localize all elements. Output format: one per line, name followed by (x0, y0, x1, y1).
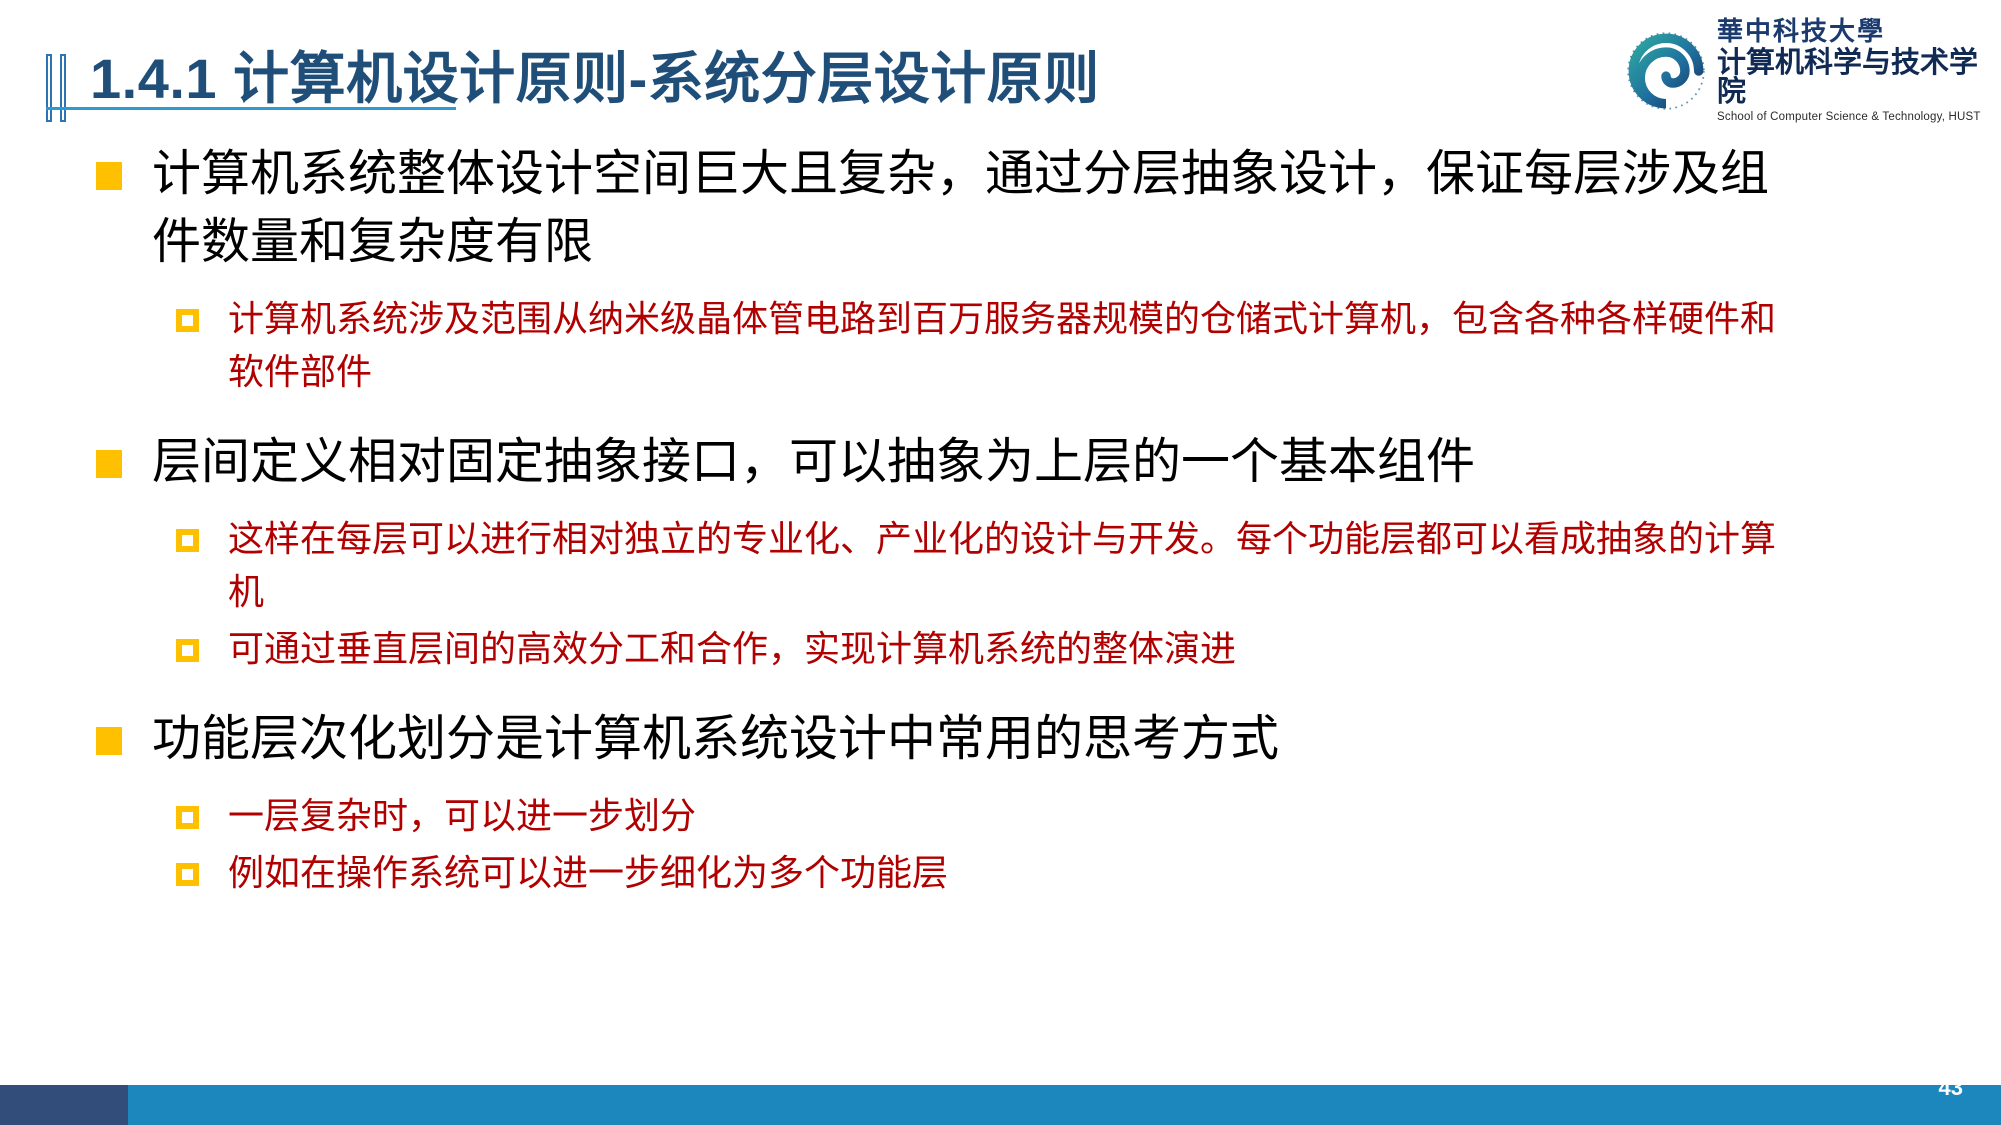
filled-square-bullet-icon (96, 450, 122, 478)
page-title: 1.4.1 计算机设计原则-系统分层设计原则 (90, 44, 1100, 114)
logo-text-block: 華中科技大學 计算机科学与技术学院 School of Computer Sci… (1717, 19, 1981, 124)
footer-left-block (0, 1085, 128, 1125)
hollow-square-bullet-icon (176, 309, 199, 332)
bullet-level2: 计算机系统涉及范围从纳米级晶体管电路到百万服务器规模的仓储式计算机，包含各种各样… (0, 292, 2001, 398)
footer-bar (0, 1085, 2001, 1125)
filled-square-bullet-icon (96, 727, 122, 755)
logo-university-name: 華中科技大學 (1717, 19, 1981, 45)
bullet-level2-text: 计算机系统涉及范围从纳米级晶体管电路到百万服务器规模的仓储式计算机，包含各种各样… (228, 292, 1788, 398)
page-number: 43 (1939, 1077, 1963, 1099)
filled-square-bullet-icon (96, 162, 122, 190)
title-decoration-bars-icon (46, 54, 72, 122)
bullet-level2: 这样在每层可以进行相对独立的专业化、产业化的设计与开发。每个功能层都可以看成抽象… (0, 512, 2001, 618)
spacer (0, 777, 2001, 789)
bullet-level2: 可通过垂直层间的高效分工和合作，实现计算机系统的整体演进 (0, 622, 2001, 675)
hollow-square-bullet-icon (176, 863, 199, 886)
bullet-level2-text: 例如在操作系统可以进一步细化为多个功能层 (228, 846, 948, 899)
spacer (0, 402, 2001, 428)
logo-school-name-english: School of Computer Science & Technology,… (1717, 112, 1981, 124)
bullet-level1-text: 计算机系统整体设计空间巨大且复杂，通过分层抽象设计，保证每层涉及组件数量和复杂度… (152, 140, 1792, 276)
bullet-level2: 一层复杂时，可以进一步划分 (0, 789, 2001, 842)
bullet-level1: 计算机系统整体设计空间巨大且复杂，通过分层抽象设计，保证每层涉及组件数量和复杂度… (0, 140, 2001, 276)
slide-canvas: 1.4.1 计算机设计原则-系统分层设计原则 華中科技大學 计算机科学与技术学 (0, 0, 2001, 1125)
hollow-square-bullet-icon (176, 529, 199, 552)
bullet-level1: 功能层次化划分是计算机系统设计中常用的思考方式 (0, 705, 2001, 773)
bullet-level2: 例如在操作系统可以进一步细化为多个功能层 (0, 846, 2001, 899)
logo-school-name: 计算机科学与技术学院 (1717, 49, 1981, 107)
hollow-square-bullet-icon (176, 806, 199, 829)
title-underline (46, 107, 456, 110)
bullet-level2-text: 可通过垂直层间的高效分工和合作，实现计算机系统的整体演进 (228, 622, 1236, 675)
university-logo: 華中科技大學 计算机科学与技术学院 School of Computer Sci… (1623, 26, 1975, 116)
spacer (0, 679, 2001, 705)
bullet-level1-text: 功能层次化划分是计算机系统设计中常用的思考方式 (152, 705, 1279, 773)
spacer (0, 500, 2001, 512)
bullet-level1: 层间定义相对固定抽象接口，可以抽象为上层的一个基本组件 (0, 428, 2001, 496)
title-bar-2 (60, 54, 66, 122)
bullet-level1-text: 层间定义相对固定抽象接口，可以抽象为上层的一个基本组件 (152, 428, 1475, 496)
bullet-level2-text: 这样在每层可以进行相对独立的专业化、产业化的设计与开发。每个功能层都可以看成抽象… (228, 512, 1788, 618)
spiral-emblem-icon (1623, 28, 1709, 114)
title-bar-1 (46, 54, 52, 122)
slide-body: 计算机系统整体设计空间巨大且复杂，通过分层抽象设计，保证每层涉及组件数量和复杂度… (0, 140, 2001, 903)
hollow-square-bullet-icon (176, 639, 199, 662)
bullet-level2-text: 一层复杂时，可以进一步划分 (228, 789, 696, 842)
spacer (0, 280, 2001, 292)
